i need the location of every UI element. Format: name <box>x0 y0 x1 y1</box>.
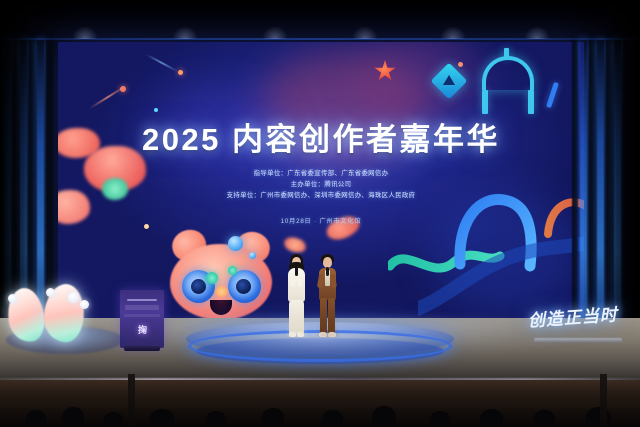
banner-text-line <box>127 299 157 301</box>
blue-arch-icon <box>482 56 534 90</box>
audience-head <box>372 406 396 427</box>
watermark-base-light <box>534 338 622 343</box>
accent-bar <box>546 82 559 108</box>
audience-head <box>150 409 174 427</box>
accent-dot <box>154 108 158 112</box>
mascot-pupil <box>191 279 206 294</box>
sculpture-toe <box>46 288 55 297</box>
host-male <box>314 254 340 342</box>
watermark-text: 创造正当时 <box>527 300 629 341</box>
arch-spire <box>504 48 509 60</box>
streak-line <box>89 84 127 109</box>
accent-dot <box>144 224 149 229</box>
host-microphone <box>326 267 329 276</box>
ceiling-spotlight <box>72 26 98 39</box>
banner-text-block <box>124 314 160 317</box>
audience-area <box>0 380 640 427</box>
banner-text-block <box>125 305 159 310</box>
mascot-nose <box>215 286 228 297</box>
banner-foot <box>124 346 160 351</box>
glowing-foot-sculpture <box>6 282 124 358</box>
audience-head <box>534 410 555 427</box>
screen-glow-bloom <box>153 90 283 170</box>
audience-head <box>62 407 84 427</box>
host-reflection <box>319 320 337 337</box>
ceiling-spotlight <box>172 26 198 39</box>
mascot-pupil <box>236 279 251 294</box>
leaf-shape <box>282 235 307 255</box>
mascot-cheek-dot <box>228 266 237 275</box>
pink-cat-mascot <box>166 230 276 320</box>
audience-head <box>480 409 503 427</box>
banner-glyph: 掬 <box>120 323 164 336</box>
accent-dot <box>458 62 463 67</box>
host-reflection <box>288 320 306 337</box>
arch-leg <box>482 90 488 114</box>
audience-head <box>206 411 226 427</box>
audience-head <box>322 410 343 427</box>
audience-head <box>104 412 123 427</box>
sculpture-toe <box>80 300 89 309</box>
leaf-shape <box>323 212 362 243</box>
teal-blob-shape <box>102 178 128 200</box>
left-stage-banner: 掬 <box>120 290 164 348</box>
ceiling-spotlight <box>440 26 466 39</box>
audience-head <box>262 408 284 427</box>
ceiling-spotlight <box>524 26 550 39</box>
auditorium-column <box>600 374 607 427</box>
arch-leg <box>528 90 534 114</box>
audience-head <box>430 411 450 427</box>
red-star-icon <box>374 60 396 82</box>
triangle-icon <box>443 75 455 85</box>
host-microphone <box>295 267 298 276</box>
sculpture-toe <box>68 292 79 303</box>
stage-scene: 2025 内容创作者嘉年华 指导单位：广东省委宣传部、广东省委网信办 主办单位：… <box>0 0 640 427</box>
mascot-bubble <box>249 252 256 259</box>
accent-dot <box>178 70 183 75</box>
sculpture-toe <box>8 294 17 303</box>
host-female <box>283 254 309 342</box>
ceiling-spotlight <box>262 26 288 39</box>
auditorium-column <box>128 374 135 427</box>
audience-head <box>586 407 611 427</box>
audience-head <box>26 410 46 427</box>
ceiling-spotlight <box>352 26 378 39</box>
streak-line <box>146 54 179 73</box>
screen-glow-bloom <box>258 52 428 162</box>
mascot-cheek-dot <box>206 272 218 284</box>
banner-panel: 掬 <box>120 290 164 348</box>
mascot-bubble <box>228 236 243 251</box>
